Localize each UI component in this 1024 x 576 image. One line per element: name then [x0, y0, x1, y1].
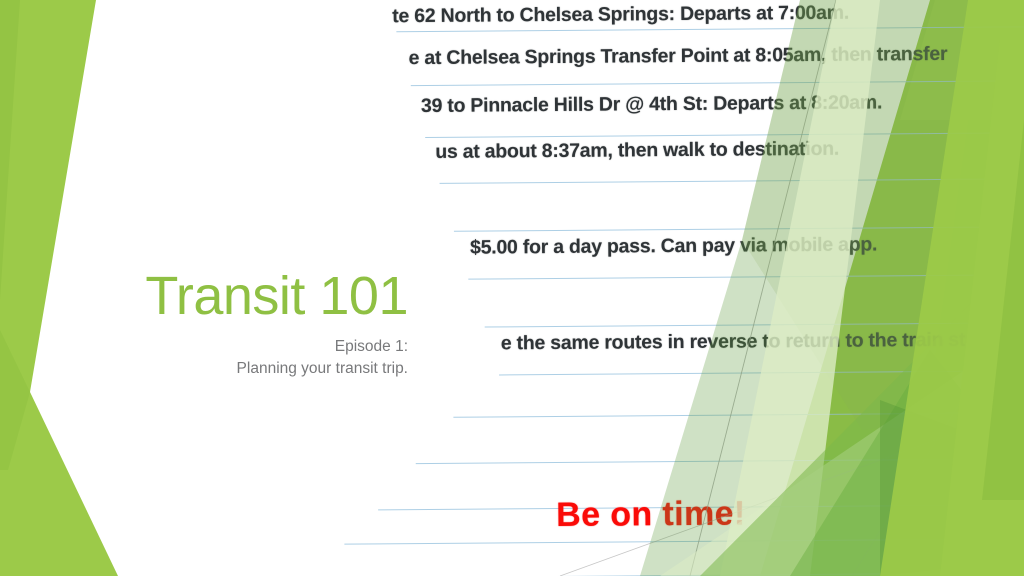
document-line: us at about 8:37am, then walk to destina…	[435, 138, 839, 164]
document-line: te 62 North to Chelsea Springs: Departs …	[392, 2, 849, 29]
document-highlight-text: Be on time!	[556, 495, 746, 535]
rule-line	[411, 80, 1024, 86]
document-line: 39 to Pinnacle Hills Dr @ 4th St: Depart…	[421, 91, 882, 118]
presentation-slide: te 62 North to Chelsea Springs: Departs …	[0, 0, 1024, 576]
rule-line	[344, 538, 1024, 545]
rule-line	[416, 458, 1024, 464]
page-title: Transit 101	[96, 268, 408, 324]
subtitle-line: Planning your transit trip.	[96, 358, 408, 380]
document-sheet: te 62 North to Chelsea Springs: Departs …	[300, 0, 1024, 576]
rule-line	[468, 274, 1024, 280]
rule-line	[499, 370, 1024, 376]
title-block: Transit 101 Episode 1: Planning your tra…	[96, 268, 408, 380]
rule-line	[425, 132, 1024, 138]
rule-line	[454, 226, 1024, 232]
rule-line	[440, 178, 1024, 184]
rule-line	[485, 322, 1024, 328]
rule-line	[453, 412, 1024, 418]
document-line: e at Chelsea Springs Transfer Point at 8…	[408, 43, 947, 70]
rule-line	[319, 572, 1024, 576]
document-line: $5.00 for a day pass. Can pay via mobile…	[470, 233, 877, 259]
subtitle-block: Episode 1: Planning your transit trip.	[96, 336, 408, 380]
subtitle-line: Episode 1:	[96, 336, 408, 358]
document-line: e the same routes in reverse to return t…	[501, 329, 982, 356]
